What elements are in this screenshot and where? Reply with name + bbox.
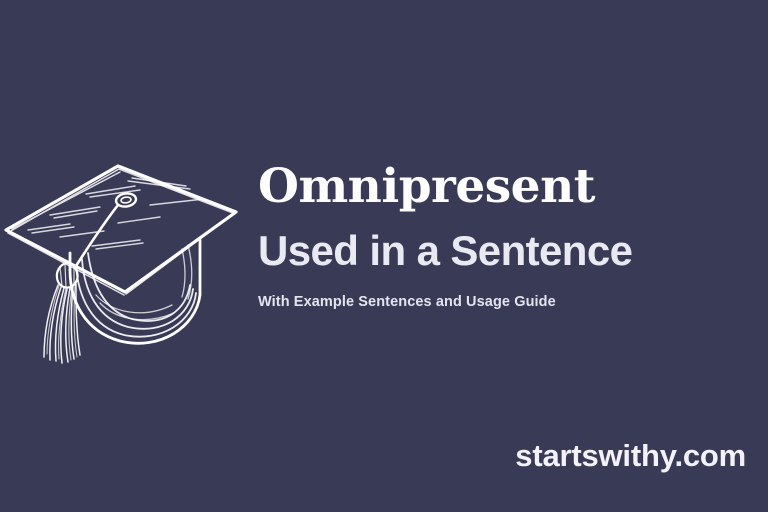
site-brand: startswithy.com (515, 438, 746, 474)
subtitle: With Example Sentences and Usage Guide (258, 294, 758, 311)
banner-canvas: Omnipresent Used in a Sentence With Exam… (0, 0, 768, 512)
headline-group: Omnipresent Used in a Sentence With Exam… (258, 163, 758, 311)
page-title: Used in a Sentence (258, 230, 758, 272)
word-title: Omnipresent (258, 163, 758, 210)
graduation-cap-icon (0, 145, 245, 370)
